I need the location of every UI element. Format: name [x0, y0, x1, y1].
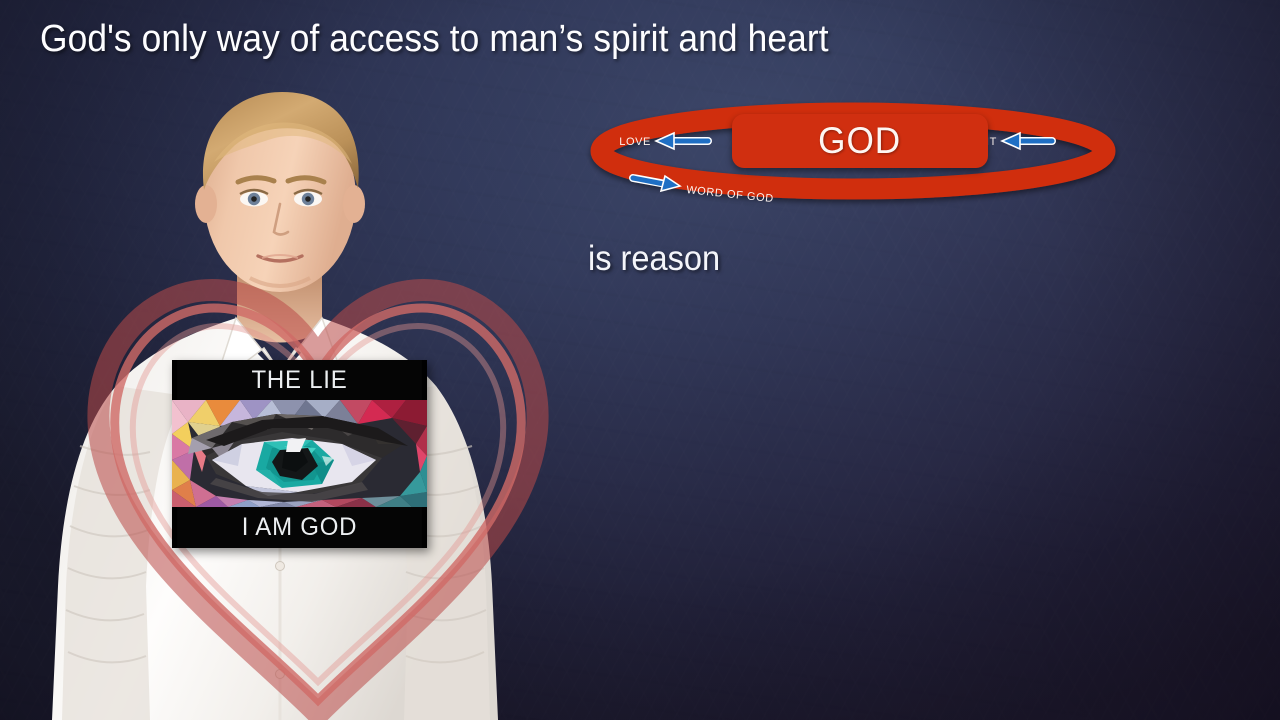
- ring-label-love: LOVE: [619, 136, 651, 148]
- slide-canvas: THE LIE: [0, 0, 1280, 720]
- subline-text: is reason: [588, 239, 720, 279]
- god-center-box: GOD: [732, 114, 988, 168]
- god-label: GOD: [819, 120, 902, 162]
- lie-card-top-label: THE LIE: [177, 360, 422, 400]
- low-poly-eye-image: [172, 400, 427, 507]
- the-lie-card: THE LIE: [172, 360, 427, 548]
- page-title: God's only way of access to man’s spirit…: [40, 19, 829, 61]
- lie-card-bottom-label: I AM GOD: [177, 507, 422, 548]
